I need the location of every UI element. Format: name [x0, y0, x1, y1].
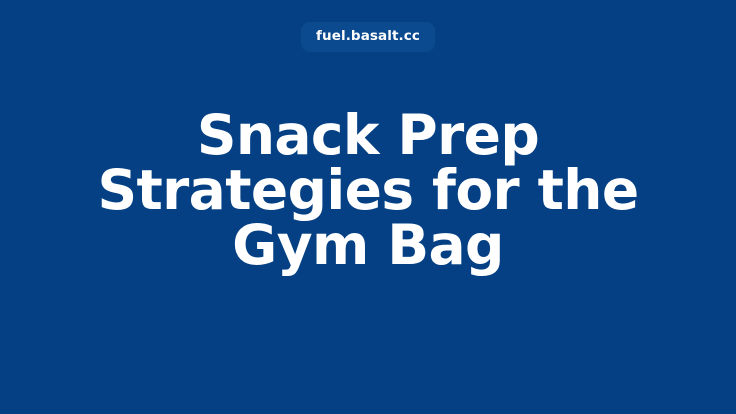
title-line-3: Gym Bag	[48, 218, 688, 273]
page-title: Snack Prep Strategies for the Gym Bag	[48, 108, 688, 273]
site-domain-badge: fuel.basalt.cc	[301, 22, 435, 52]
title-slide: fuel.basalt.cc Snack Prep Strategies for…	[0, 0, 736, 414]
title-line-2: Strategies for the	[48, 163, 688, 218]
headline-container: Snack Prep Strategies for the Gym Bag	[0, 0, 736, 414]
badge-row: fuel.basalt.cc	[0, 22, 736, 52]
title-line-1: Snack Prep	[48, 108, 688, 163]
